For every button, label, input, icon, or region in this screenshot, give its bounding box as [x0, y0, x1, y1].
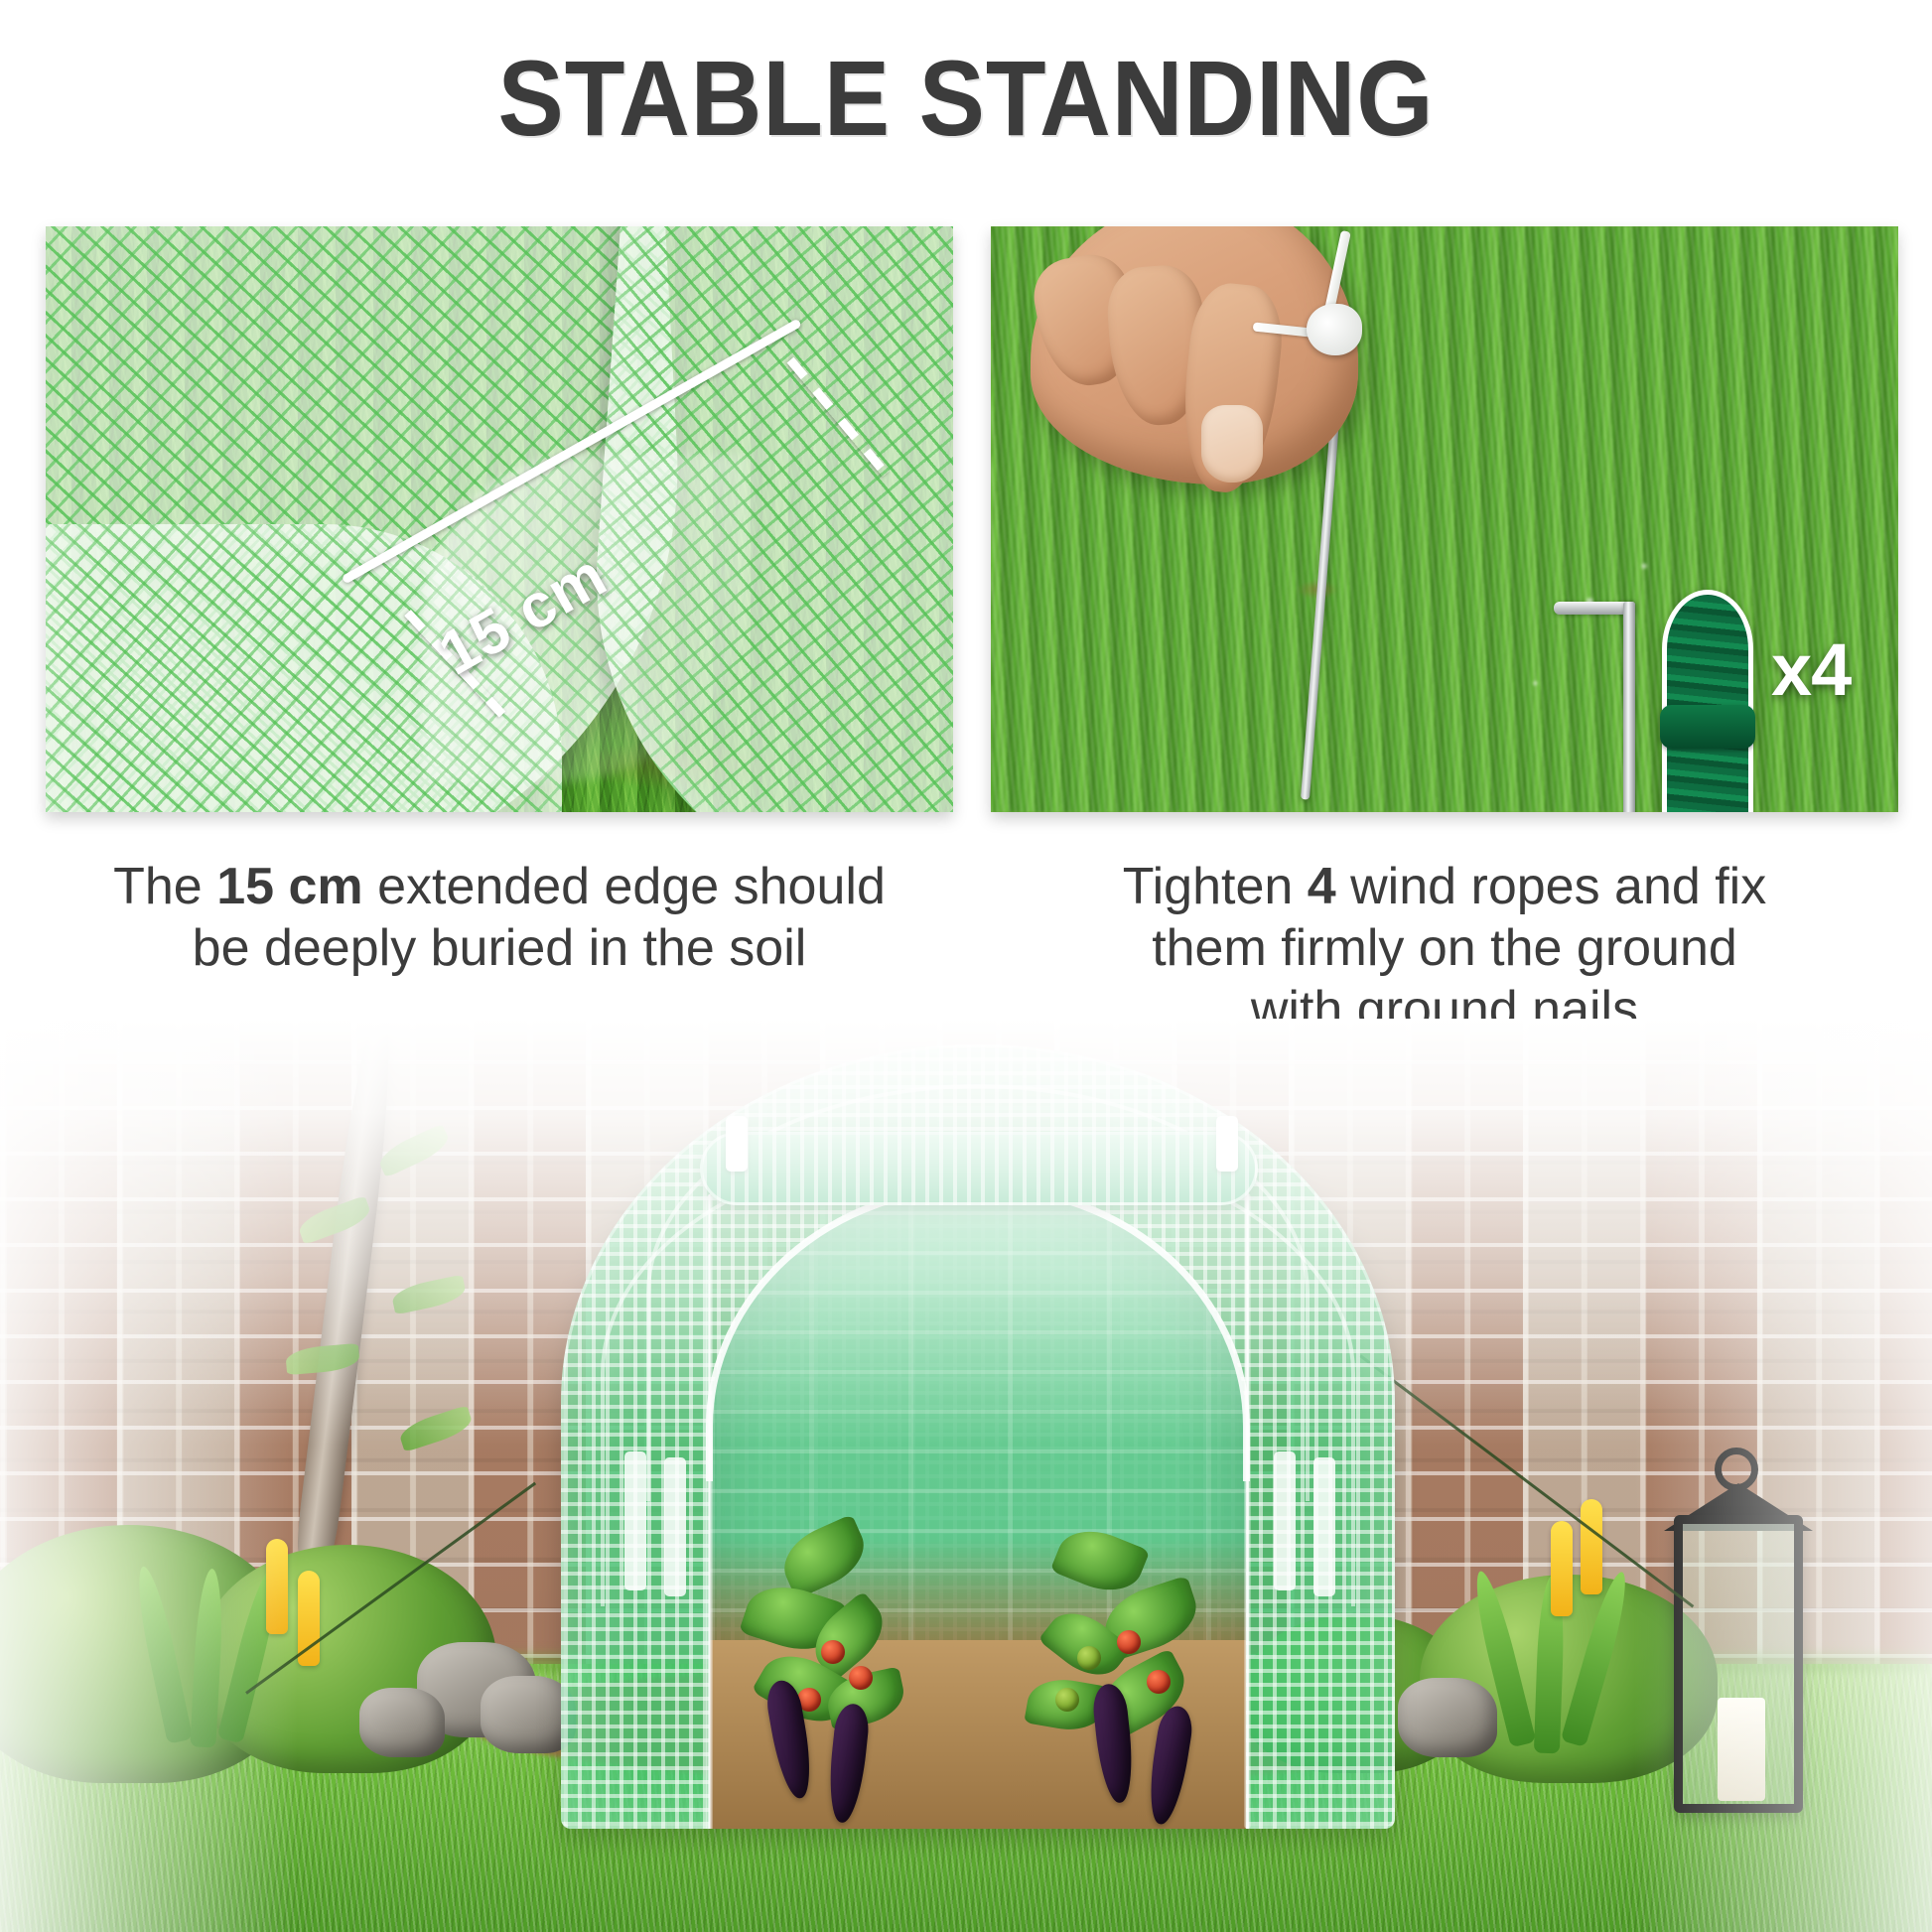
side-vent: [624, 1451, 646, 1590]
ground-nail-icon: [1623, 602, 1635, 812]
rope-bundle-band: [1660, 705, 1755, 749]
caption-right-line1-rest: wind ropes and fix: [1336, 858, 1767, 915]
tomato-fruit: [1147, 1670, 1171, 1694]
photo-content-right: x4: [991, 226, 1898, 812]
fingernail: [1201, 405, 1263, 483]
caption-left-highlight: 15 cm: [216, 858, 362, 915]
caption-right-prefix: Tighten: [1123, 858, 1308, 915]
caption-left-line1-rest: extended edge should: [363, 858, 886, 915]
quantity-badge: x4: [1771, 627, 1851, 712]
page-title: STABLE STANDING: [77, 44, 1855, 153]
rope-bundle-icon: [1662, 590, 1753, 812]
caption-right-highlight: 4: [1308, 858, 1336, 915]
caption-right: Tighten 4 wind ropes and fix them firmly…: [991, 856, 1898, 1040]
tomato-fruit: [849, 1666, 873, 1690]
infographic-page: STABLE STANDING 15 cm: [0, 0, 1932, 1932]
rock: [1398, 1678, 1497, 1757]
fog-overlay-right: [1634, 1019, 1932, 1932]
photo-content-left: 15 cm: [46, 226, 953, 812]
buried-edge-photo: 15 cm: [46, 226, 953, 812]
tomato-fruit: [1077, 1646, 1101, 1670]
tomato-fruit: [1055, 1688, 1079, 1712]
side-vent: [1274, 1451, 1296, 1590]
fog-overlay-left: [0, 1019, 298, 1932]
greenhouse-lifestyle-photo: [0, 1019, 1932, 1932]
wind-rope-photo: x4: [991, 226, 1898, 812]
yellow-flower: [1581, 1499, 1602, 1594]
caption-left: The 15 cm extended edge should be deeply…: [46, 856, 953, 979]
rock: [359, 1688, 445, 1757]
tomato-fruit: [1117, 1630, 1141, 1654]
yellow-flower: [1551, 1521, 1573, 1616]
tomato-fruit: [821, 1640, 845, 1664]
caption-left-line2: be deeply buried in the soil: [193, 919, 807, 977]
caption-left-prefix: The: [113, 858, 216, 915]
caption-right-line2: them firmly on the ground: [1152, 919, 1737, 977]
side-vent: [664, 1457, 686, 1596]
side-vent: [1313, 1457, 1335, 1596]
rope-knot: [1307, 304, 1362, 355]
